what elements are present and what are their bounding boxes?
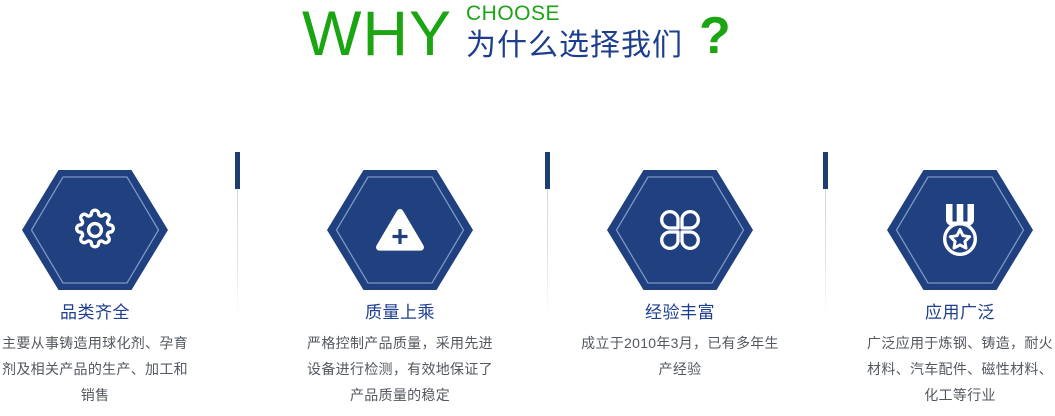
triangle-plus-icon bbox=[327, 170, 473, 290]
heading-why: WHY bbox=[302, 2, 452, 66]
feature-description: 严格控制产品质量，采用先进设备进行检测，有效地保证了产品质量的稳定 bbox=[285, 330, 515, 408]
hexagon-badge bbox=[327, 170, 473, 290]
section-heading: WHY CHOOSE 为什么选择我们 ? bbox=[0, 0, 1055, 86]
feature-description: 成立于2010年3月，已有多年生产经验 bbox=[565, 330, 795, 382]
hexagon-badge bbox=[887, 170, 1033, 290]
heading-text-stack: CHOOSE 为什么选择我们 bbox=[466, 2, 683, 64]
feature-columns: 品类齐全 主要从事铸造用球化剂、孕育剂及相关产品的生产、加工和销售 质量上乘 严… bbox=[0, 150, 1055, 416]
feature-title: 品类齐全 bbox=[0, 302, 210, 324]
feature-description: 主要从事铸造用球化剂、孕育剂及相关产品的生产、加工和销售 bbox=[0, 330, 210, 408]
feature-title: 应用广泛 bbox=[845, 302, 1055, 324]
feature-column: 经验丰富 成立于2010年3月，已有多年生产经验 bbox=[565, 150, 795, 382]
hexagon-badge bbox=[607, 170, 753, 290]
feature-title: 质量上乘 bbox=[285, 302, 515, 324]
feature-column: 品类齐全 主要从事铸造用球化剂、孕育剂及相关产品的生产、加工和销售 bbox=[0, 150, 210, 408]
four-petal-clover-icon bbox=[607, 170, 753, 290]
gear-icon bbox=[22, 170, 168, 290]
medal-star-icon bbox=[887, 170, 1033, 290]
feature-description: 广泛应用于炼钢、铸造，耐火材料、汽车配件、磁性材料、化工等行业 bbox=[845, 330, 1055, 408]
feature-column: 应用广泛 广泛应用于炼钢、铸造，耐火材料、汽车配件、磁性材料、化工等行业 bbox=[845, 150, 1055, 408]
heading-inner: WHY CHOOSE 为什么选择我们 ? bbox=[302, 0, 731, 66]
heading-choose: CHOOSE bbox=[466, 2, 683, 26]
heading-chinese: 为什么选择我们 bbox=[466, 28, 683, 64]
hexagon-badge bbox=[22, 170, 168, 290]
heading-question-mark: ? bbox=[699, 10, 731, 62]
feature-column: 质量上乘 严格控制产品质量，采用先进设备进行检测，有效地保证了产品质量的稳定 bbox=[285, 150, 515, 408]
feature-title: 经验丰富 bbox=[565, 302, 795, 324]
